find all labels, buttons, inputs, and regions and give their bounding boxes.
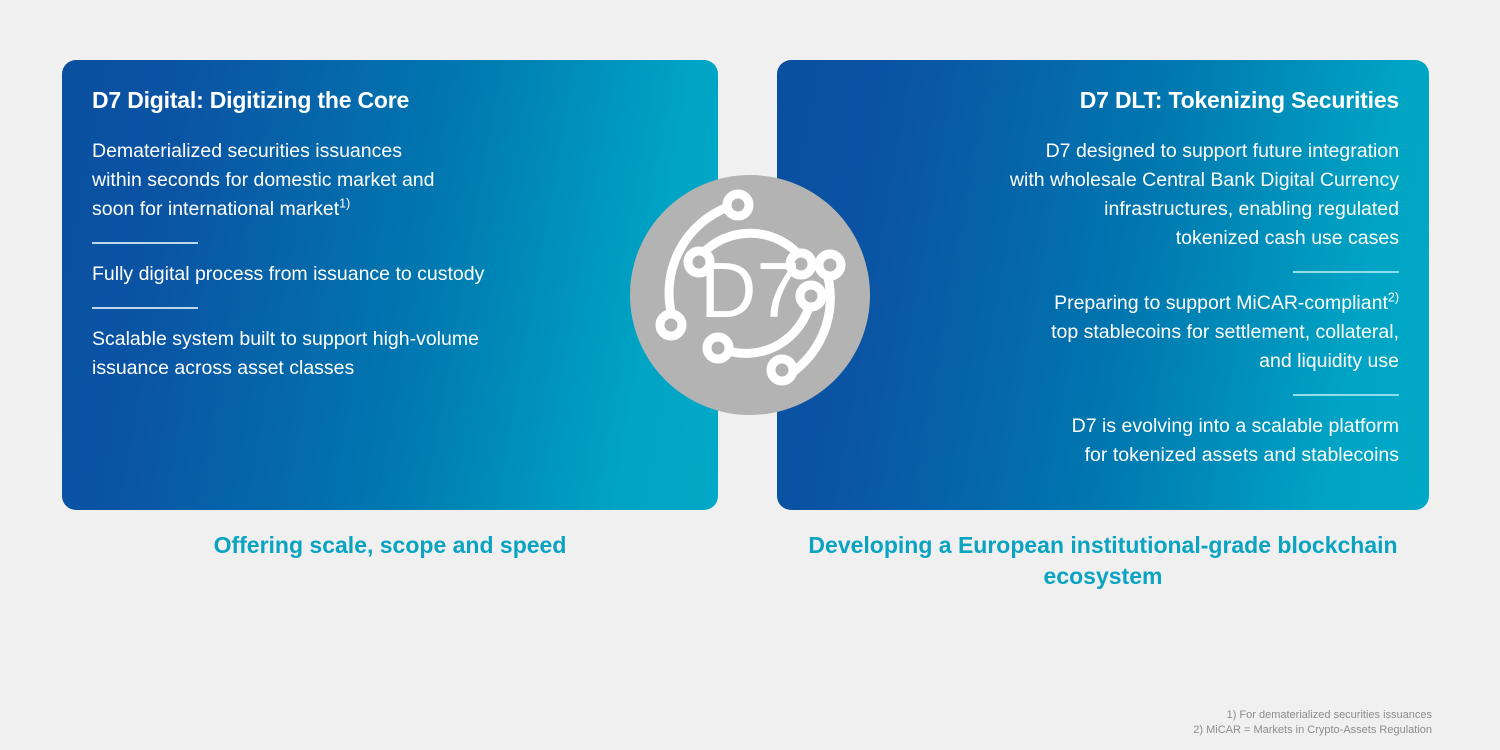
card-right-block-2: Preparing to support MiCAR-compliant2) t… (807, 289, 1399, 376)
d7-network-logo-icon: D7 (630, 175, 870, 415)
card-right-block-2-text: Preparing to support MiCAR-compliant (1054, 292, 1388, 314)
slide-canvas: D7 Digital: Digitizing the Core Demateri… (0, 0, 1500, 750)
card-right-block-3-text: D7 is evolving into a scalable platform … (1072, 415, 1399, 466)
footnote-ref-2: 2) (1388, 290, 1399, 304)
footnote-1: 1) For dematerialized securities issuanc… (1193, 708, 1432, 723)
footnote-ref-1: 1) (339, 196, 350, 210)
card-right-block-1-text: D7 designed to support future integratio… (1010, 140, 1399, 249)
caption-right: Developing a European institutional-grad… (777, 530, 1429, 592)
caption-left: Offering scale, scope and speed (62, 530, 718, 561)
card-right-block-3: D7 is evolving into a scalable platform … (807, 412, 1399, 470)
card-right-block-2-text-after: top stablecoins for settlement, collater… (1051, 321, 1399, 372)
card-left-blocks: Dematerialized securities issuances with… (92, 137, 688, 383)
card-left-block-2: Fully digital process from issuance to c… (92, 260, 688, 289)
d7-logo-text: D7 (700, 246, 800, 334)
card-right-block-1: D7 designed to support future integratio… (807, 137, 1399, 253)
card-left-block-3: Scalable system built to support high-vo… (92, 325, 688, 383)
card-left-divider-1 (92, 242, 198, 244)
card-left-divider-2 (92, 307, 198, 309)
card-left-block-3-text: Scalable system built to support high-vo… (92, 328, 479, 379)
footnote-2: 2) MiCAR = Markets in Crypto-Assets Regu… (1193, 723, 1432, 738)
card-right-divider-2 (1293, 394, 1399, 396)
card-d7-digital: D7 Digital: Digitizing the Core Demateri… (62, 60, 718, 510)
card-right-title: D7 DLT: Tokenizing Securities (807, 86, 1399, 115)
footnotes: 1) For dematerialized securities issuanc… (1193, 708, 1432, 738)
card-left-block-1: Dematerialized securities issuances with… (92, 137, 688, 224)
card-d7-dlt: D7 DLT: Tokenizing Securities D7 designe… (777, 60, 1429, 510)
card-left-block-1-text: Dematerialized securities issuances with… (92, 140, 435, 220)
card-left-block-2-text: Fully digital process from issuance to c… (92, 263, 484, 285)
card-right-divider-1 (1293, 271, 1399, 273)
card-right-blocks: D7 designed to support future integratio… (807, 137, 1399, 470)
card-left-title: D7 Digital: Digitizing the Core (92, 86, 688, 115)
